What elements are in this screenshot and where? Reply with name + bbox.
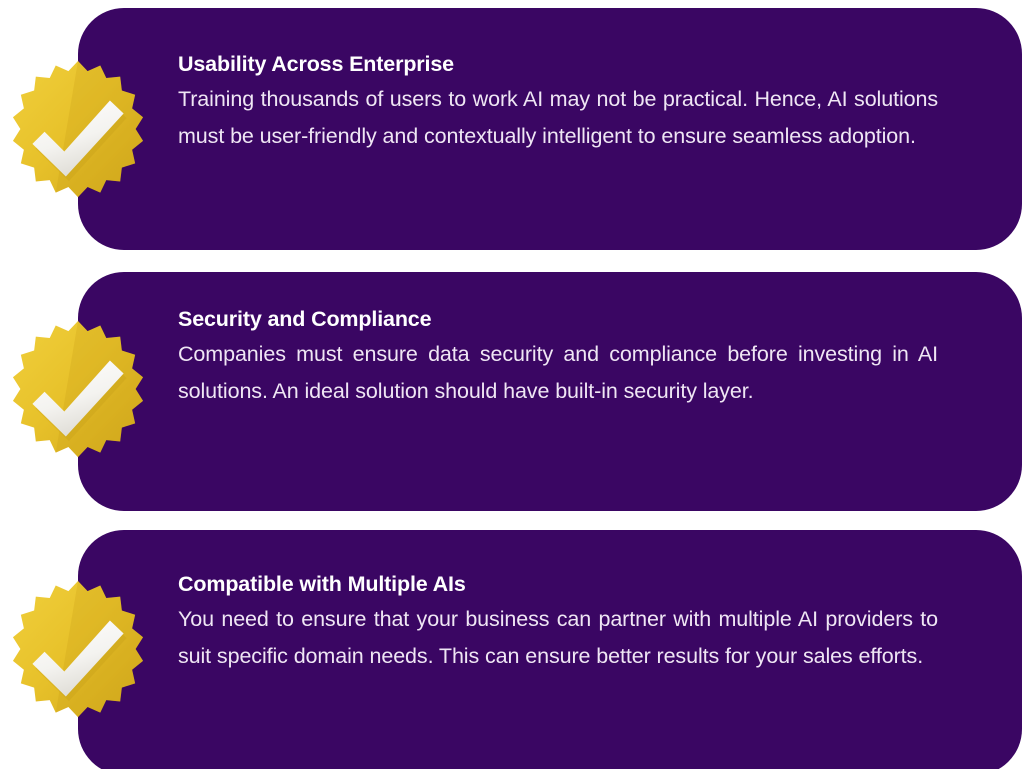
feature-card-compatibility: Compatible with Multiple AIs You need to… [78, 530, 1022, 769]
card-body: You need to ensure that your business ca… [178, 601, 938, 675]
card-body: Companies must ensure data security and … [178, 336, 938, 410]
card-title: Compatible with Multiple AIs [178, 572, 938, 597]
card-title: Usability Across Enterprise [178, 52, 938, 77]
card-text-block: Usability Across Enterprise Training tho… [178, 52, 938, 155]
card-title: Security and Compliance [178, 307, 938, 332]
card-body: Training thousands of users to work AI m… [178, 81, 938, 155]
card-text-block: Compatible with Multiple AIs You need to… [178, 572, 938, 675]
feature-card-usability: Usability Across Enterprise Training tho… [78, 8, 1022, 250]
card-text-block: Security and Compliance Companies must e… [178, 307, 938, 410]
cards-board: Usability Across Enterprise Training tho… [0, 0, 1024, 769]
feature-card-security: Security and Compliance Companies must e… [78, 272, 1022, 511]
